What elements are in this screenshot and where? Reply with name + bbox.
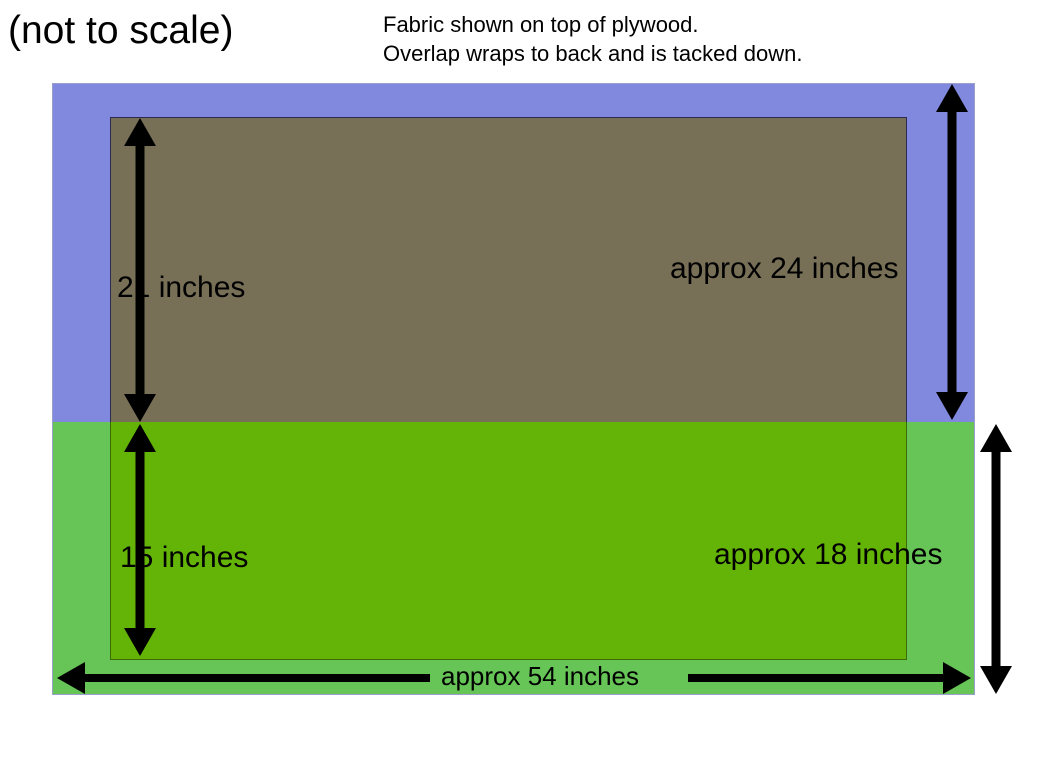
annotation-note: Fabric shown on top of plywood. Overlap … [383, 10, 802, 68]
dimension-label-fabric-height-lower: approx 18 inches [714, 538, 943, 572]
dimension-label-fabric-height-upper: approx 24 inches [670, 252, 899, 286]
annotation-note-line-1: Fabric shown on top of plywood. [383, 10, 802, 39]
dimension-label-fabric-width: approx 54 inches [433, 659, 647, 693]
dimension-label-plywood-height-lower: 15 inches [120, 541, 248, 575]
arrow-fabric-height-lower [980, 424, 1012, 694]
dimension-label-plywood-height-upper: 21 inches [117, 271, 245, 305]
annotation-note-line-2: Overlap wraps to back and is tacked down… [383, 39, 802, 68]
diagram-canvas: (not to scale) Fabric shown on top of pl… [0, 0, 1037, 778]
page-title: (not to scale) [8, 8, 233, 54]
